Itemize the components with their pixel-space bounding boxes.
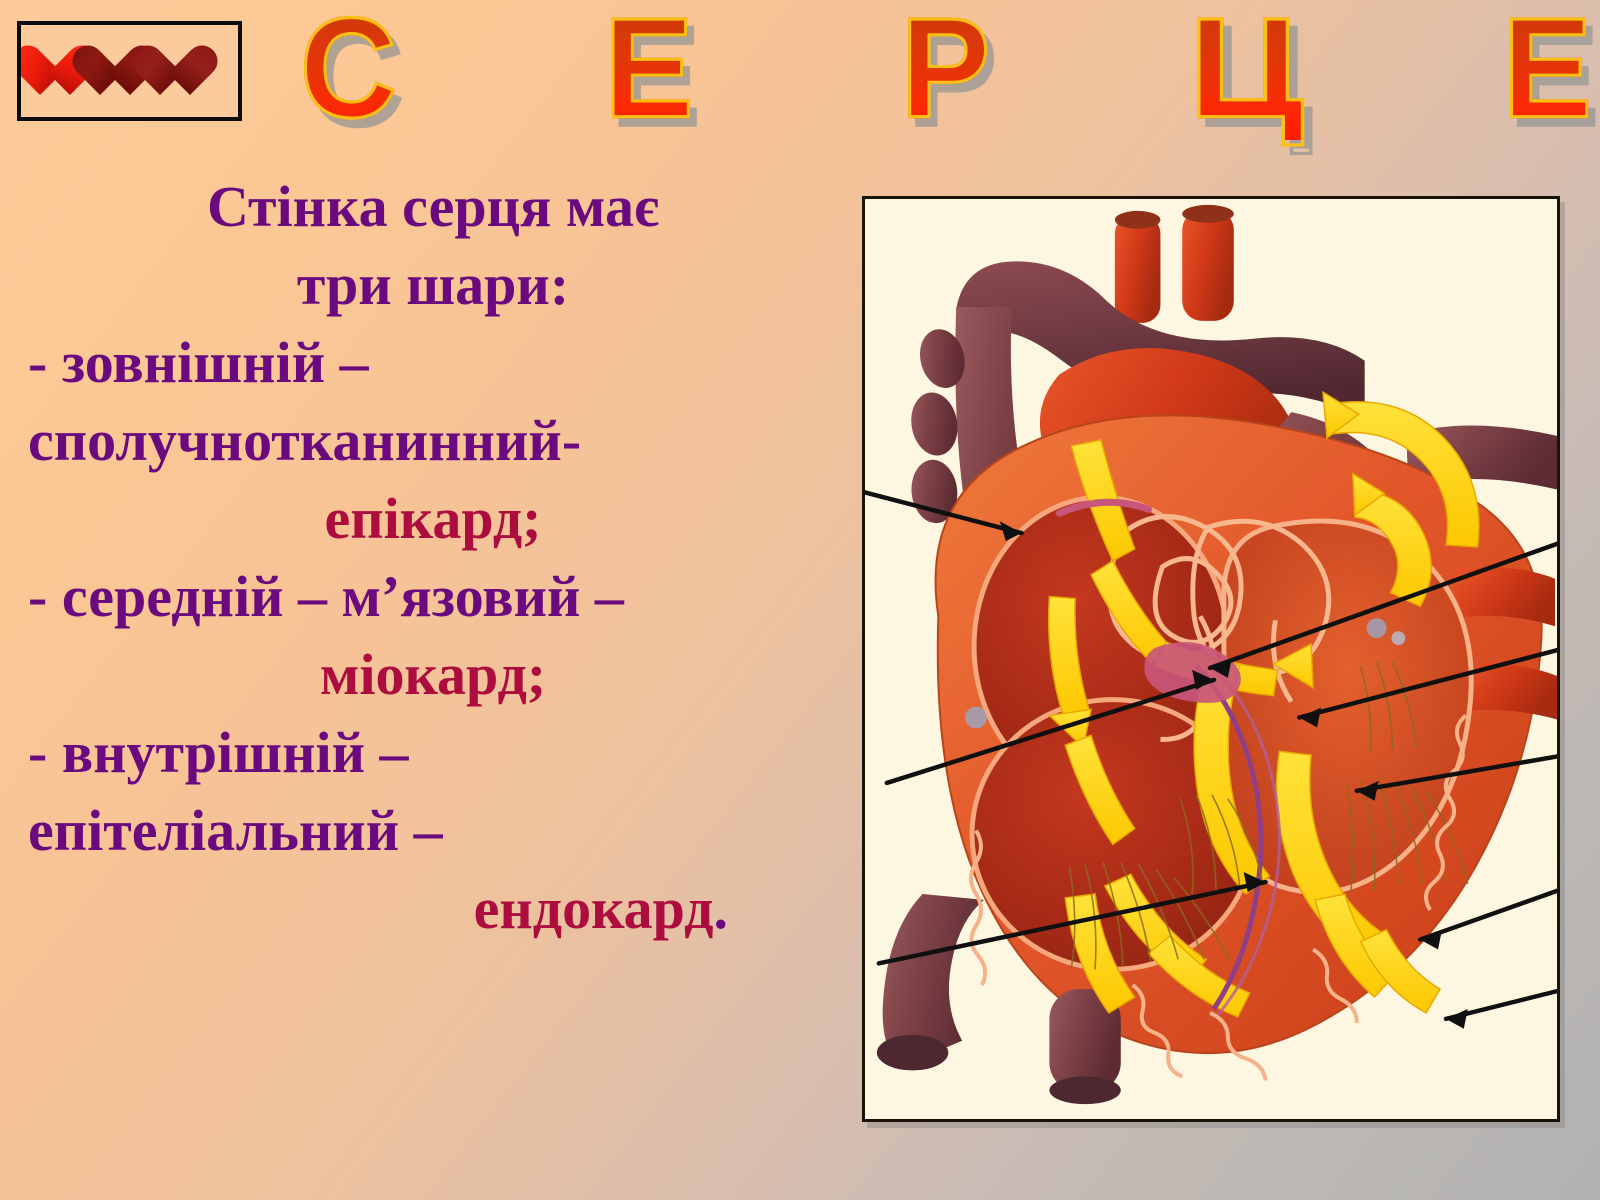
text-line-2: три шари: bbox=[28, 246, 838, 324]
body-text-block: Стінка серця має три шари: - зовнішній –… bbox=[28, 168, 838, 948]
text-line-3: - зовнішній – bbox=[28, 324, 838, 402]
term-endocardium: ендокард bbox=[474, 876, 714, 941]
slide-canvas: С Е Р Ц Е Стінка серця має три шари: - з… bbox=[0, 0, 1600, 1200]
node-marker bbox=[1367, 618, 1387, 638]
title-letter-1: С bbox=[300, 0, 397, 140]
title-letter-3: Р bbox=[901, 0, 990, 140]
node-marker bbox=[965, 707, 987, 729]
text-line-9: епітеліальний – bbox=[28, 792, 838, 870]
text-line-1: Стінка серця має bbox=[28, 168, 838, 246]
text-segment: епітеліальний – bbox=[28, 798, 443, 863]
page-title: С Е Р Ц Е bbox=[300, 6, 1600, 132]
text-segment: Стінка серця має bbox=[207, 174, 659, 239]
title-letter-5: Е bbox=[1503, 0, 1592, 140]
sentence-period: . bbox=[714, 876, 729, 941]
text-segment: - внутрішній – bbox=[28, 720, 409, 785]
node-marker bbox=[1391, 631, 1405, 645]
text-line-4: сполучнотканинний- bbox=[28, 402, 838, 480]
text-line-6: - середній – м’язовий – bbox=[28, 558, 838, 636]
text-line-7: міокард; bbox=[28, 636, 838, 714]
heart-cross-section-diagram bbox=[862, 196, 1560, 1122]
text-segment: три шари: bbox=[297, 252, 569, 317]
text-line-8: - внутрішній – bbox=[28, 714, 838, 792]
heart-illustration-svg bbox=[865, 199, 1557, 1119]
text-line-10: ендокард. bbox=[28, 870, 838, 948]
text-segment: - середній – м’язовий – bbox=[28, 564, 624, 629]
text-line-5: епікард; bbox=[28, 480, 838, 558]
term-myocardium: міокард; bbox=[320, 642, 546, 707]
title-letter-2: Е bbox=[604, 0, 693, 140]
heart-icon-3 bbox=[159, 41, 221, 101]
term-epicardium: епікард; bbox=[325, 486, 542, 551]
three-hearts-icon bbox=[17, 21, 242, 121]
text-segment: - зовнішній – bbox=[28, 330, 369, 395]
title-letter-4: Ц bbox=[1189, 0, 1305, 140]
text-segment: сполучнотканинний- bbox=[28, 408, 581, 473]
